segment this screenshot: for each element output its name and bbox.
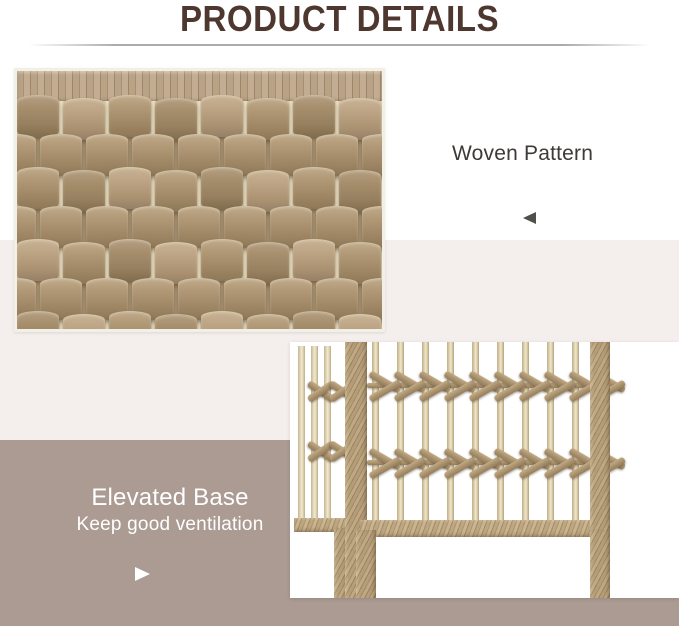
cabinet-front-slat [422, 342, 429, 524]
elevated-base-sublabel: Keep good ventilation [60, 513, 280, 537]
cabinet-front-slat [572, 342, 579, 524]
woven-strip [63, 314, 105, 329]
cabinet-front-slat [447, 342, 454, 524]
arrow-left-icon [523, 212, 536, 224]
woven-pattern-canvas [17, 71, 382, 329]
cabinet-corner-post-right [590, 342, 610, 532]
arrow-right-icon [135, 567, 150, 581]
elevated-base-label-group: Elevated Base Keep good ventilation [60, 484, 280, 537]
cabinet-front-slat [497, 342, 504, 524]
woven-horizontal-strips [17, 101, 382, 329]
page-title: PRODUCT DETAILS [27, 0, 652, 39]
header: PRODUCT DETAILS [0, 0, 679, 48]
elevated-base-image [290, 342, 679, 598]
cabinet-illustration [290, 342, 679, 598]
woven-strip [155, 314, 197, 329]
cabinet-leg-front-right [590, 530, 610, 598]
woven-pattern-image [14, 68, 385, 332]
woven-strip [247, 314, 289, 329]
cabinet-side-slat [298, 346, 305, 518]
woven-strip [293, 311, 335, 329]
elevated-base-label: Elevated Base [60, 484, 280, 512]
cabinet-side-slat [311, 346, 318, 518]
woven-strip-row [17, 311, 382, 329]
woven-pattern-label: Woven Pattern [452, 142, 593, 166]
cabinet-front-slat [372, 342, 379, 524]
woven-strip [109, 311, 151, 329]
cabinet-front-slat [522, 342, 529, 524]
title-divider [28, 44, 651, 46]
cabinet-front-slat [397, 342, 404, 524]
product-details-graphic: PRODUCT DETAILS Woven Pattern Elevated B… [0, 0, 679, 626]
woven-strip [17, 311, 59, 329]
cabinet-side-slat [324, 346, 331, 518]
cabinet-front-rail [360, 520, 610, 537]
cabinet-leg-front-left [356, 530, 376, 598]
woven-strip [339, 314, 381, 329]
cabinet-front-slat [472, 342, 479, 524]
woven-strip [201, 311, 243, 329]
cabinet-front-slat [547, 342, 554, 524]
